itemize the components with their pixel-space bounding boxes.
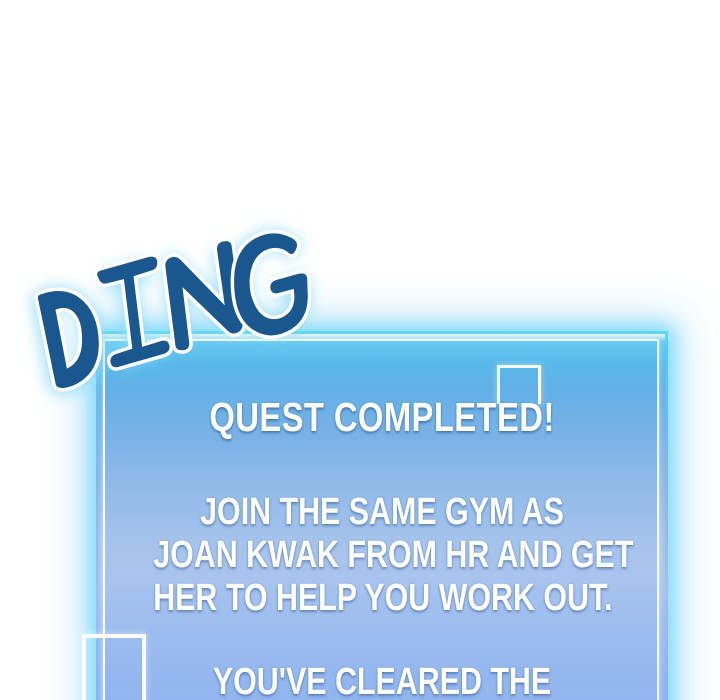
- quest-reward: YOU'VE CLEARED THE: [153, 661, 611, 700]
- quest-body: JOIN THE SAME GYM AS JOAN KWAK FROM HR A…: [153, 491, 611, 620]
- quest-reward-line: YOU'VE CLEARED THE: [153, 661, 611, 700]
- quest-body-line: JOIN THE SAME GYM AS: [153, 491, 611, 534]
- quest-title: QUEST COMPLETED!: [153, 395, 611, 439]
- quest-body-line: HER TO HELP YOU WORK OUT.: [153, 577, 611, 620]
- quest-notification-panel: QUEST COMPLETED! JOIN THE SAME GYM AS JO…: [96, 331, 668, 700]
- ding-letter-g: [224, 228, 316, 341]
- quest-body-line: JOAN KWAK FROM HR AND GET: [153, 534, 611, 577]
- comic-panel-stage: QUEST COMPLETED! JOIN THE SAME GYM AS JO…: [0, 0, 720, 700]
